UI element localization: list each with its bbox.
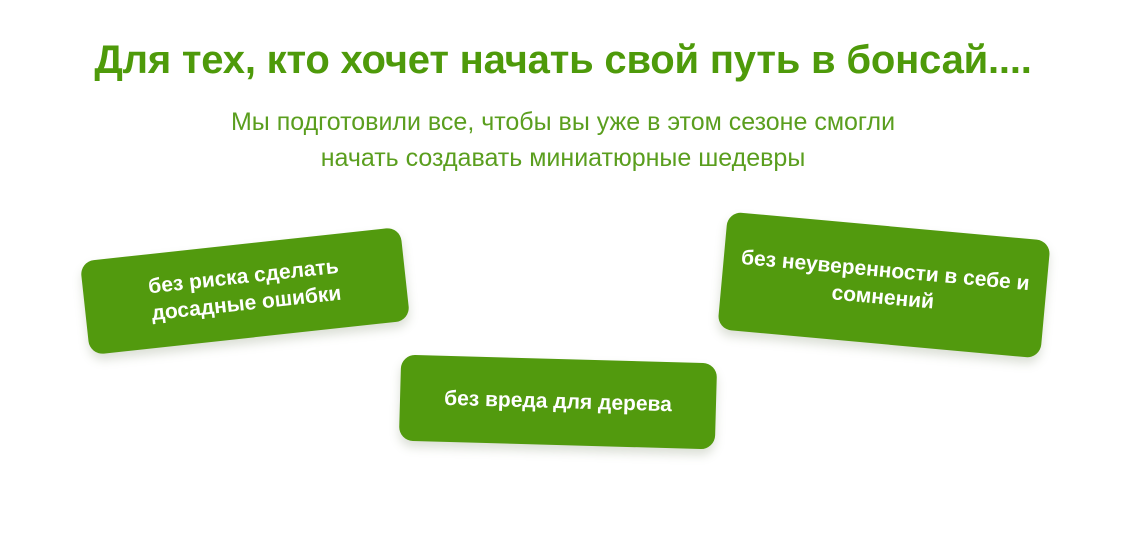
benefit-badge-no-self-doubt: без неуверенности в себе и сомнений	[717, 212, 1050, 359]
benefit-badge-no-tree-harm: без вреда для дерева	[399, 355, 717, 450]
benefit-badge-label: без риска сделать досадные ошибки	[82, 247, 408, 335]
page-subtitle-line-1: Мы подготовили все, чтобы вы уже в этом …	[0, 104, 1126, 140]
benefit-badge-label: без вреда для дерева	[430, 385, 686, 419]
benefit-badge-label: без неуверенности в себе и сомнений	[720, 244, 1048, 327]
page-subtitle: Мы подготовили все, чтобы вы уже в этом …	[0, 104, 1126, 176]
page-subtitle-line-2: начать создавать миниатюрные шедевры	[0, 140, 1126, 176]
benefit-badge-no-risk: без риска сделать досадные ошибки	[80, 227, 410, 355]
page-title: Для тех, кто хочет начать свой путь в бо…	[0, 36, 1126, 84]
promo-section: Для тех, кто хочет начать свой путь в бо…	[0, 0, 1126, 536]
